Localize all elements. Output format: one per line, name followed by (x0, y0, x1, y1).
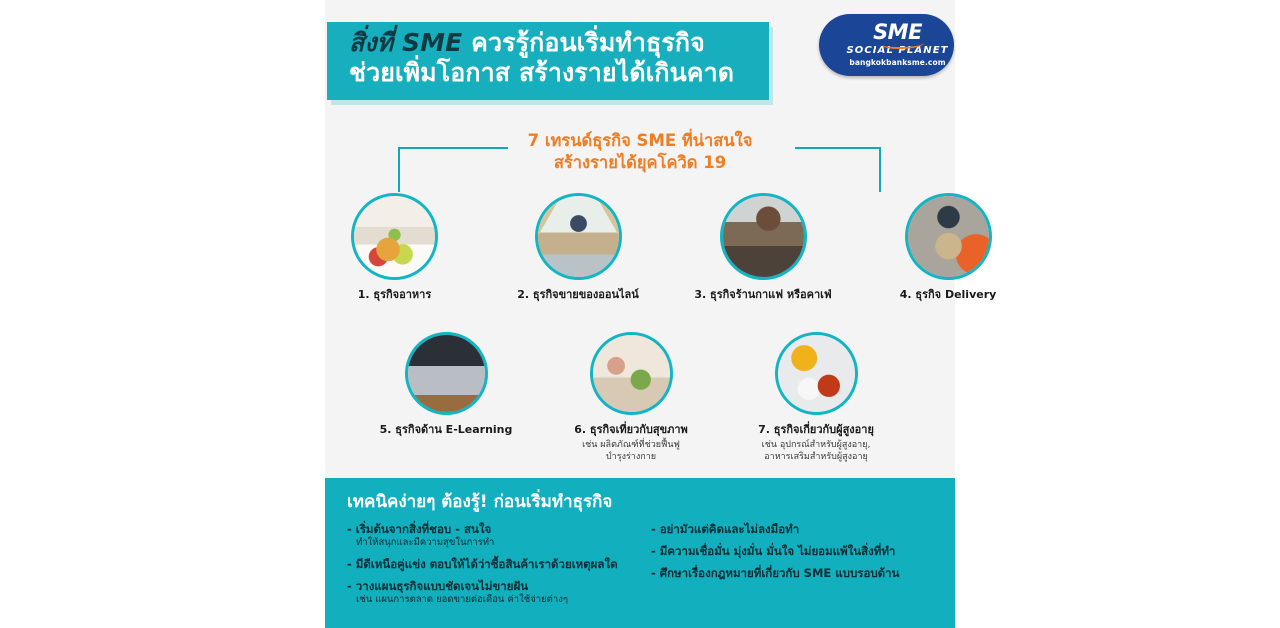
trend-item-4[interactable]: 4. ธุรกิจ Delivery (903, 193, 993, 302)
tip-text: - มีดีเหนือคู่แข่ง ตอบให้ได้ว่าซื้อสินค้… (347, 557, 629, 572)
tip-item: - มีความเชื่อมั่น มุ่งมั่น มั่นใจ ไม่ยอม… (651, 544, 933, 559)
trend-row-top: 1. ธุรกิจอาหาร 2. ธุรกิจขายของออนไลน์ 3.… (325, 193, 955, 302)
trend-photo-circle-3 (720, 193, 807, 280)
tips-column-left: - เริ่มต้นจากสิ่งที่ชอบ - สนใจ ทำให้สนุก… (347, 522, 629, 613)
online-seller-photo (538, 196, 619, 277)
trend-label-2: 2. ธุรกิจขายของออนไลน์ (517, 288, 639, 302)
tip-item: - เริ่มต้นจากสิ่งที่ชอบ - สนใจ ทำให้สนุก… (347, 522, 629, 550)
trend-subtext-6: เช่น ผลิตภัณฑ์ที่ช่วยฟื้นฟูบำรุงร่างกาย (582, 439, 680, 463)
trend-item-6[interactable]: 6. ธุรกิจเที่ยวกับสุขภาพ เช่น ผลิตภัณฑ์ท… (586, 332, 676, 463)
tip-note: ทำให้สนุกและมีความสุขในการทำ (347, 537, 629, 550)
trend-label-6: 6. ธุรกิจเที่ยวกับสุขภาพ (574, 423, 688, 437)
tips-panel: เทคนิคง่ายๆ ต้องรู้! ก่อนเริ่มทำธุรกิจ -… (325, 478, 955, 628)
tip-text: - วางแผนธุรกิจแบบชัดเจนไม่ขายฝัน (347, 579, 629, 594)
trend-photo-circle-2 (535, 193, 622, 280)
tips-column-right: - อย่ามัวแต่คิดและไม่ลงมือทำ - มีความเชื… (651, 522, 933, 613)
trend-item-1[interactable]: 1. ธุรกิจอาหาร (351, 193, 438, 302)
header-line-1: สิ่งที่ SME ควรรู้ก่อนเริ่มทำธุรกิจ (349, 28, 769, 58)
tip-text: - มีความเชื่อมั่น มุ่งมั่น มั่นใจ ไม่ยอม… (651, 544, 933, 559)
tip-item: - ศึกษาเรื่องกฎหมายที่เกี่ยวกับ SME แบบร… (651, 566, 933, 581)
tip-note: เช่น แผนการตลาด ยอดขายต่อเดือน ค่าใช้จ่า… (347, 594, 629, 607)
trend-item-5[interactable]: 5. ธุรกิจด้าน E-Learning (401, 332, 491, 463)
logo-url: bangkokbanksme.com (841, 58, 954, 69)
header-banner: สิ่งที่ SME ควรรู้ก่อนเริ่มทำธุรกิจ ช่วย… (327, 22, 771, 101)
tip-item: - มีดีเหนือคู่แข่ง ตอบให้ได้ว่าซื้อสินค้… (347, 557, 629, 572)
trend-item-3[interactable]: 3. ธุรกิจร้านกาแฟ หรือคาเฟ่ (718, 193, 808, 302)
trend-photo-circle-4 (905, 193, 992, 280)
supplements-photo (778, 335, 855, 412)
delivery-rider-photo (908, 196, 989, 277)
infographic-page: สิ่งที่ SME ควรรู้ก่อนเริ่มทำธุรกิจ ช่วย… (0, 0, 1280, 628)
header-line-1-rest: ควรรู้ก่อนเริ่มทำธุรกิจ (462, 28, 705, 57)
trend-label-4: 4. ธุรกิจ Delivery (900, 288, 997, 302)
trend-label-3: 3. ธุรกิจร้านกาแฟ หรือคาเฟ่ (694, 288, 831, 302)
header-line-1-emphasis: สิ่งที่ SME (349, 28, 462, 57)
trend-photo-circle-6 (590, 332, 673, 415)
laptop-elearning-photo (408, 335, 485, 412)
tip-text: - อย่ามัวแต่คิดและไม่ลงมือทำ (651, 522, 933, 537)
trend-item-2[interactable]: 2. ธุรกิจขายของออนไลน์ (533, 193, 623, 302)
trend-label-5: 5. ธุรกิจด้าน E-Learning (380, 423, 513, 437)
trend-row-bottom: 5. ธุรกิจด้าน E-Learning 6. ธุรกิจเที่ยว… (325, 332, 955, 463)
infographic-canvas: สิ่งที่ SME ควรรู้ก่อนเริ่มทำธุรกิจ ช่วย… (325, 0, 955, 628)
trend-photo-circle-7 (775, 332, 858, 415)
cafe-barista-photo (723, 196, 804, 277)
tips-title: เทคนิคง่ายๆ ต้องรู้! ก่อนเริ่มทำธุรกิจ (347, 492, 933, 512)
trend-photo-circle-5 (405, 332, 488, 415)
trend-item-7[interactable]: 7. ธุรกิจเกี่ยวกับผู้สูงอายุ เช่น อุปกรณ… (771, 332, 861, 463)
header-line-2: ช่วยเพิ่มโอกาส สร้างรายได้เกินคาด (349, 58, 769, 88)
sme-social-planet-logo[interactable]: SME SOCIAL PLANET bangkokbanksme.com (819, 14, 954, 76)
healthy-grocery-photo (593, 335, 670, 412)
tip-text: - ศึกษาเรื่องกฎหมายที่เกี่ยวกับ SME แบบร… (651, 566, 933, 581)
subtitle-line-2: สร้างรายได้ยุคโควิด 19 (325, 152, 955, 174)
header-banner-box: สิ่งที่ SME ควรรู้ก่อนเริ่มทำธุรกิจ ช่วย… (327, 22, 769, 100)
subtitle-line-1: 7 เทรนด์ธุรกิจ SME ที่น่าสนใจ (325, 130, 955, 152)
tip-text: - เริ่มต้นจากสิ่งที่ชอบ - สนใจ (347, 522, 629, 537)
tip-item: - วางแผนธุรกิจแบบชัดเจนไม่ขายฝัน เช่น แผ… (347, 579, 629, 607)
trend-photo-circle-1 (351, 193, 438, 280)
trend-label-7: 7. ธุรกิจเกี่ยวกับผู้สูงอายุ (758, 423, 874, 437)
subtitle-block: 7 เทรนด์ธุรกิจ SME ที่น่าสนใจ สร้างรายได… (325, 130, 955, 174)
plated-food-photo (354, 196, 435, 277)
logo-inner: SME SOCIAL PLANET bangkokbanksme.com (819, 22, 954, 69)
trend-subtext-7: เช่น อุปกรณ์สำหรับผู้สูงอายุ,อาหารเสริมส… (762, 439, 871, 463)
tips-columns: - เริ่มต้นจากสิ่งที่ชอบ - สนใจ ทำให้สนุก… (347, 522, 933, 613)
tip-item: - อย่ามัวแต่คิดและไม่ลงมือทำ (651, 522, 933, 537)
trend-label-1: 1. ธุรกิจอาหาร (358, 288, 432, 302)
